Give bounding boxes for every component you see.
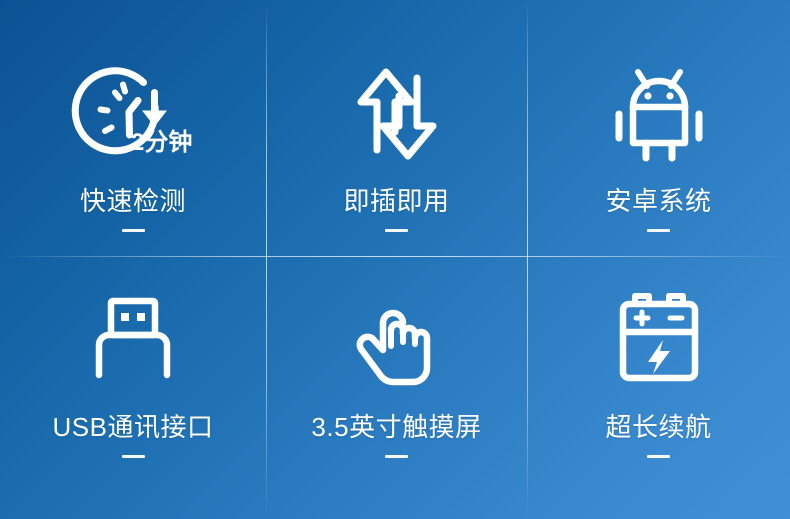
feature-cell-plug-and-play: 即插即用 — [266, 0, 527, 256]
up-down-arrows-icon — [349, 58, 445, 170]
feature-underline — [122, 229, 145, 232]
battery-bolt-icon — [615, 282, 703, 394]
feature-label: 超长续航 — [605, 412, 711, 442]
feature-underline — [647, 455, 670, 458]
feature-label: 安卓系统 — [605, 186, 711, 216]
feature-highlight-banner: 2分钟 快速检测 即插即用 — [0, 0, 790, 519]
android-robot-icon — [606, 58, 712, 170]
feature-cell-long-battery: 超长续航 — [527, 256, 790, 519]
feature-underline — [647, 229, 670, 232]
feature-cell-usb-port: USB通讯接口 — [0, 256, 266, 519]
touch-hand-icon — [347, 282, 447, 394]
usb-connector-icon — [85, 282, 181, 394]
feature-cell-fast-detection: 2分钟 快速检测 — [0, 0, 266, 256]
clock-badge-text: 2分钟 — [131, 129, 192, 156]
feature-cell-touchscreen: 3.5英寸触摸屏 — [266, 256, 527, 519]
feature-label: 即插即用 — [343, 186, 449, 216]
clock-arrow-icon: 2分钟 — [69, 58, 197, 170]
feature-cell-android-system: 安卓系统 — [527, 0, 790, 256]
feature-label: USB通讯接口 — [53, 412, 214, 442]
feature-grid: 2分钟 快速检测 即插即用 — [0, 0, 790, 519]
feature-underline — [385, 455, 408, 458]
feature-underline — [385, 229, 408, 232]
feature-label: 快速检测 — [80, 186, 186, 216]
feature-label: 3.5英寸触摸屏 — [311, 412, 481, 442]
feature-underline — [122, 455, 145, 458]
